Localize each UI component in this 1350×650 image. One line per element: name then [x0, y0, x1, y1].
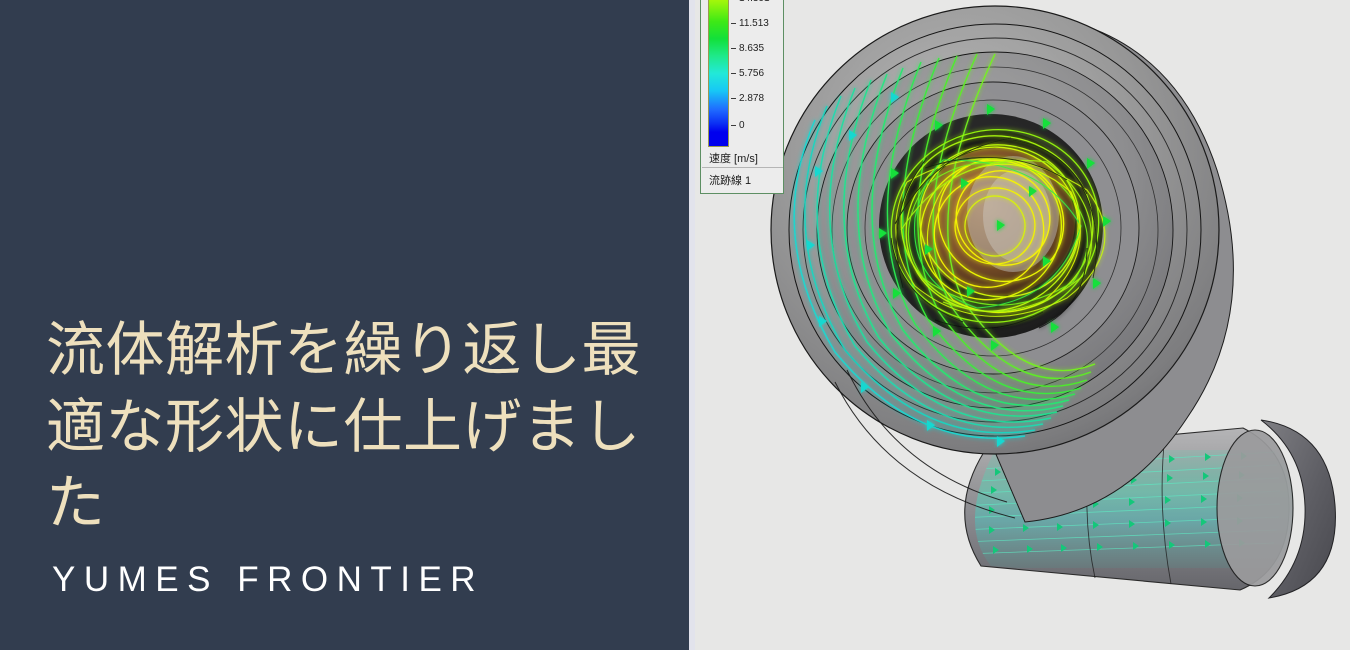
- legend-tick: [731, 23, 736, 24]
- legend-tick: [731, 48, 736, 49]
- legend-tick: [731, 125, 736, 126]
- slide-root: 流体解析を繰り返し最適な形状に仕上げました YUMES FRONTIER: [0, 0, 1350, 650]
- legend-separator: [702, 167, 783, 168]
- cfd-viewport: 17.269 14.391 11.513 8.635 5.756 2.878 0…: [695, 0, 1350, 650]
- legend-series-label: 流跡線 1: [709, 172, 751, 188]
- legend-unit-label: 速度 [m/s]: [709, 150, 758, 166]
- legend-tick: [731, 98, 736, 99]
- legend-value-5: 2.878: [739, 94, 764, 104]
- legend-value-1: 14.391: [739, 0, 770, 4]
- legend-value-2: 11.513: [739, 19, 769, 29]
- colorbar-gradient: [708, 0, 729, 147]
- page-title: 流体解析を繰り返し最適な形状に仕上げました: [46, 312, 656, 542]
- color-legend: 17.269 14.391 11.513 8.635 5.756 2.878 0…: [700, 0, 784, 194]
- left-text-panel: 流体解析を繰り返し最適な形状に仕上げました YUMES FRONTIER: [0, 0, 689, 650]
- legend-tick: [731, 73, 736, 74]
- legend-value-4: 5.756: [739, 69, 764, 79]
- brand-wordmark: YUMES FRONTIER: [52, 562, 484, 597]
- legend-value-6: 0: [739, 121, 745, 131]
- cfd-render-image: [695, 0, 1350, 650]
- legend-value-3: 8.635: [739, 44, 764, 54]
